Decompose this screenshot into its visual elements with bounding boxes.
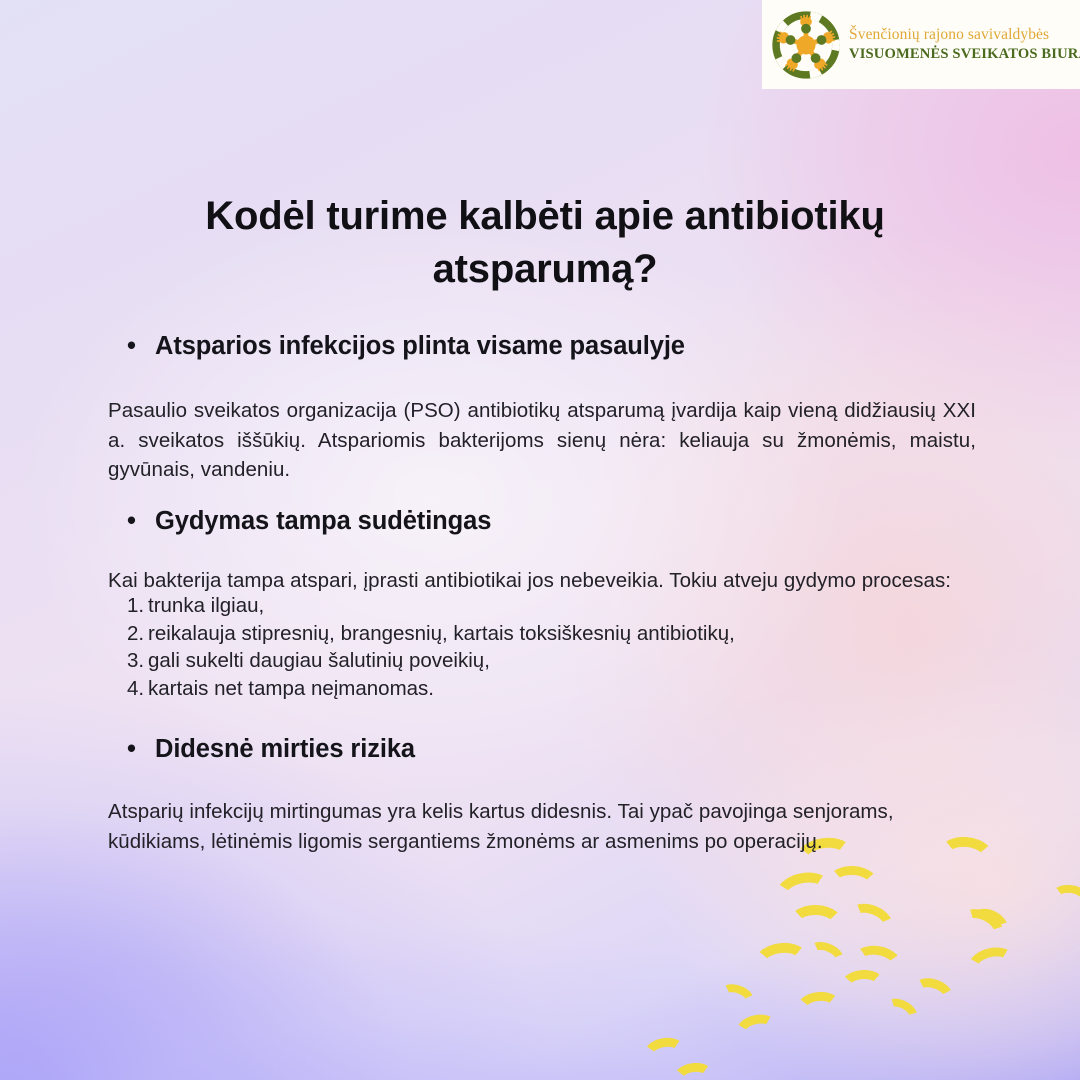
poster-canvas: Švenčionių rajono savivaldybės VISUOMENĖ… xyxy=(0,0,1080,1080)
list-item-number: 2. xyxy=(127,624,148,645)
poster-content: Kodėl turime kalbėti apie antibiotikų at… xyxy=(0,0,1080,1080)
section-heading-1-label: Atsparios infekcijos plinta visame pasau… xyxy=(155,331,685,363)
list-item: 4.kartais net tampa neįmanomas. xyxy=(127,679,1027,700)
list-item-label: gali sukelti daugiau šalutinių poveikių, xyxy=(148,651,1027,672)
section-2-intro-text: Kai bakterija tampa atspari, įprasti ant… xyxy=(108,566,1038,596)
page-title: Kodėl turime kalbėti apie antibiotikų at… xyxy=(150,190,940,296)
section-paragraph-1: Pasaulio sveikatos organizacija (PSO) an… xyxy=(108,396,976,485)
section-heading-1: • Atsparios infekcijos plinta visame pas… xyxy=(127,331,685,363)
list-item-number: 4. xyxy=(127,679,148,700)
bullet-icon: • xyxy=(127,509,155,535)
section-heading-3-label: Didesnė mirties rizika xyxy=(155,734,415,766)
bullet-icon: • xyxy=(127,737,155,763)
list-item: 2.reikalauja stipresnių, brangesnių, kar… xyxy=(127,624,1027,645)
section-heading-3: • Didesnė mirties rizika xyxy=(127,734,415,766)
list-item-label: reikalauja stipresnių, brangesnių, karta… xyxy=(148,624,1027,645)
list-item: 1.trunka ilgiau, xyxy=(127,596,1027,617)
list-item-label: kartais net tampa neįmanomas. xyxy=(148,679,1027,700)
section-heading-2-label: Gydymas tampa sudėtingas xyxy=(155,506,491,538)
list-item-number: 3. xyxy=(127,651,148,672)
bullet-icon: • xyxy=(127,334,155,360)
section-paragraph-3: Atsparių infekcijų mirtingumas yra kelis… xyxy=(108,797,988,856)
treatment-consequences-list: 1.trunka ilgiau,2.reikalauja stipresnių,… xyxy=(127,596,1027,706)
list-item-number: 1. xyxy=(127,596,148,617)
list-item-label: trunka ilgiau, xyxy=(148,596,1027,617)
section-heading-2: • Gydymas tampa sudėtingas xyxy=(127,506,491,538)
list-item: 3.gali sukelti daugiau šalutinių poveiki… xyxy=(127,651,1027,672)
